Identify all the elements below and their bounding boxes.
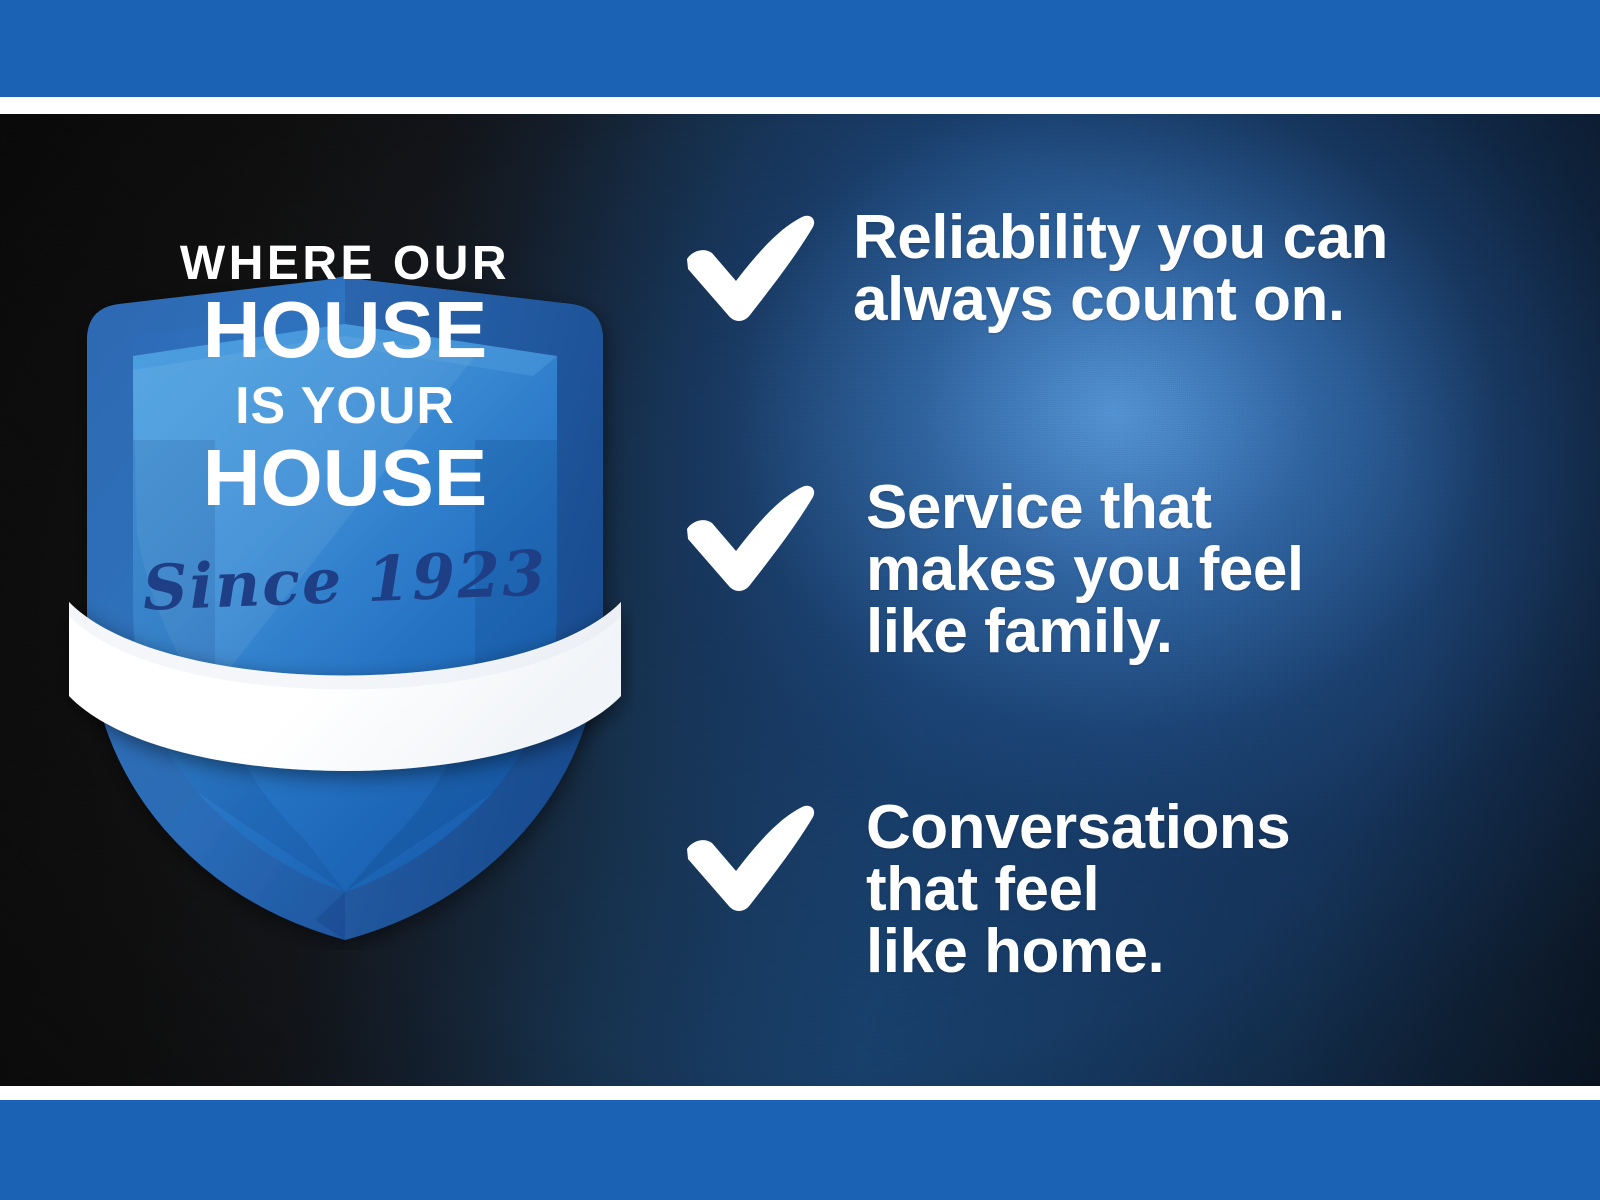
shield-graphic — [55, 140, 635, 950]
bottom-brand-bar — [0, 1100, 1600, 1200]
benefit-text-2: Service that makes you feel like family. — [866, 477, 1600, 663]
checkmark-icon — [670, 207, 820, 327]
brand-logo: WHERE OUR HOUSE IS YOUR HOUSE Since 1923 — [55, 140, 635, 950]
benefit-text-1: Reliability you can always count on. — [853, 207, 1600, 331]
checkmark-icon — [670, 477, 820, 597]
checkmark-icon — [670, 797, 820, 917]
promo-banner: WHERE OUR HOUSE IS YOUR HOUSE Since 1923… — [0, 0, 1600, 1200]
benefits-list: Reliability you can always count on. Ser… — [670, 0, 1600, 1200]
benefit-text-3: Conversations that feel like home. — [866, 797, 1600, 983]
